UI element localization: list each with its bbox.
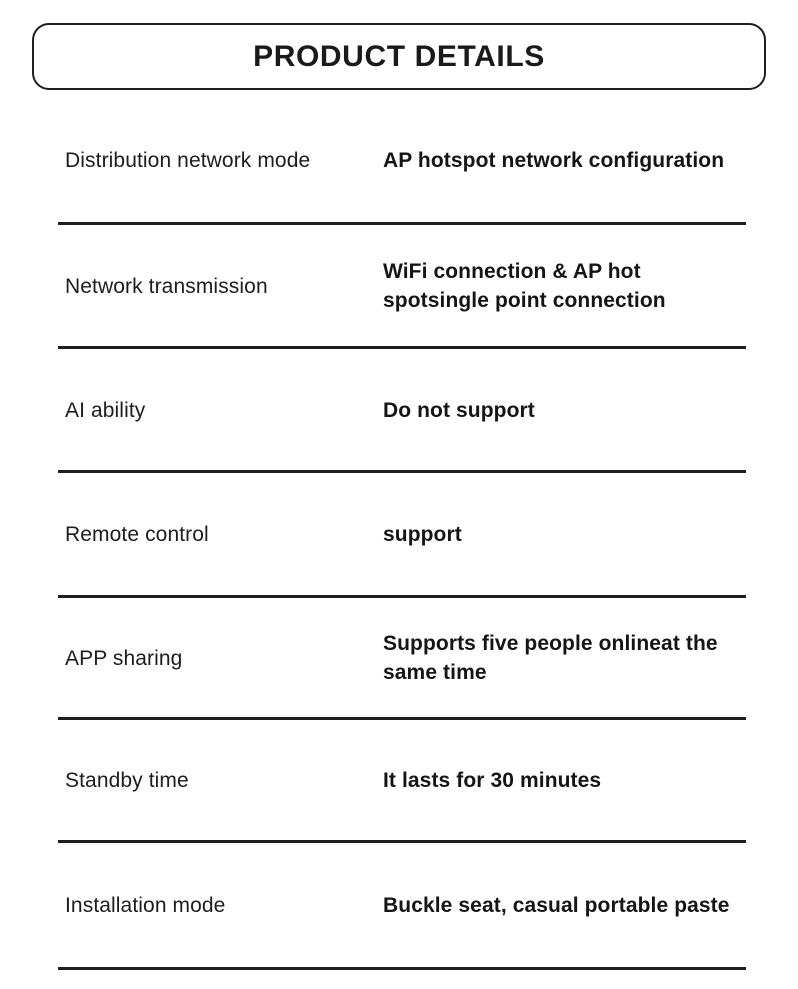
spec-label: AI ability [65,397,383,426]
spec-label: Standby time [65,767,383,796]
table-row: Distribution network mode AP hotspot net… [0,98,798,225]
spec-label: APP sharing [65,645,383,674]
specifications-table: Distribution network mode AP hotspot net… [0,98,798,970]
spec-value: Do not support [383,397,746,426]
page-header-banner: PRODUCT DETAILS [32,23,766,90]
table-row: Installation mode Buckle seat, casual po… [0,843,798,970]
spec-value: AP hotspot network configuration [383,147,746,176]
spec-label: Remote control [65,521,383,550]
table-row: AI ability Do not support [0,349,798,473]
spec-value: Supports five people onlineat the same t… [383,630,746,688]
spec-value: Buckle seat, casual portable paste [383,892,746,921]
spec-value: It lasts for 30 minutes [383,767,746,796]
spec-label: Installation mode [65,892,383,921]
spec-value: WiFi connection & AP hot spotsingle poin… [383,258,746,316]
spec-label: Distribution network mode [65,147,383,176]
spec-value: support [383,521,746,550]
table-row: Remote control support [0,473,798,598]
spec-label: Network transmission [65,273,383,302]
table-row: APP sharing Supports five people onlinea… [0,598,798,720]
table-row: Network transmission WiFi connection & A… [0,225,798,349]
table-row: Standby time It lasts for 30 minutes [0,720,798,843]
product-details-page: PRODUCT DETAILS Distribution network mod… [0,0,798,989]
page-title: PRODUCT DETAILS [253,42,545,72]
